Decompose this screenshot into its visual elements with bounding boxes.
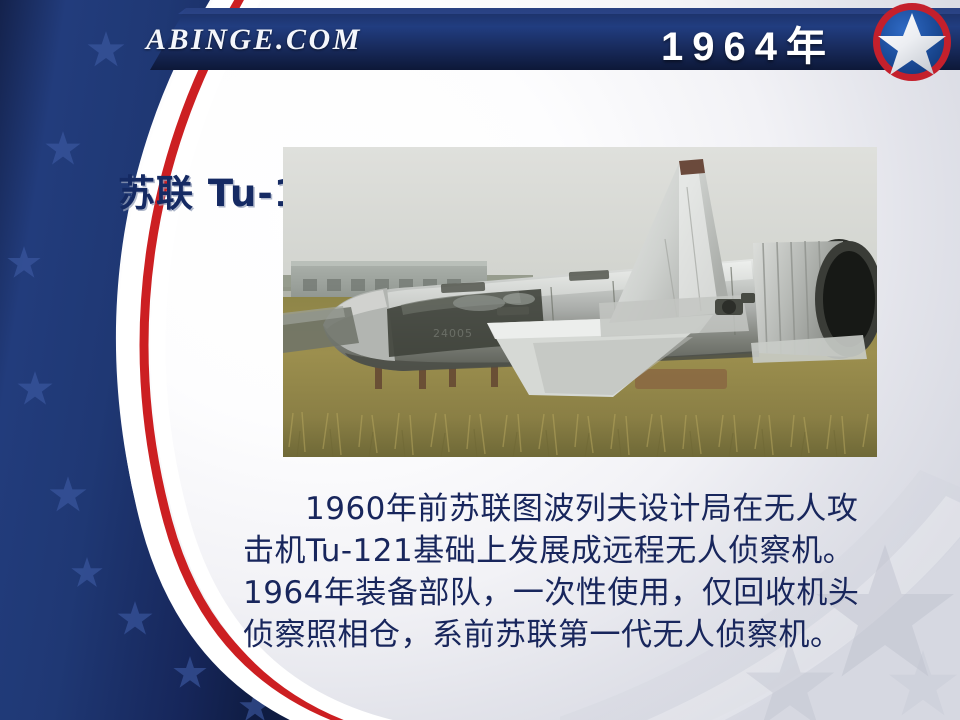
star-badge-icon <box>868 0 956 88</box>
year-label: 1964年 <box>661 14 835 72</box>
watermark-star-small-icon <box>886 648 960 720</box>
paragraph-line-2: 击机Tu-121基础上发展成远程无人侦察机。 <box>243 530 903 572</box>
tu-121-drone-photograph: 24005 <box>283 147 877 457</box>
paragraph-line-4: 侦察照相仓，系前苏联第一代无人侦察机。 <box>243 614 903 656</box>
body-paragraph: 1960年前苏联图波列夫设计局在无人攻 击机Tu-121基础上发展成远程无人侦察… <box>243 488 903 656</box>
paragraph-line-3: 1964年装备部队，一次性使用，仅回收机头 <box>243 572 903 614</box>
site-title: ABINGE.COM <box>146 23 362 57</box>
slide-canvas: ABINGE.COM 1964年 苏联 Tu-121无人机 <box>0 0 960 720</box>
paragraph-line-1: 1960年前苏联图波列夫设计局在无人攻 <box>243 488 903 530</box>
